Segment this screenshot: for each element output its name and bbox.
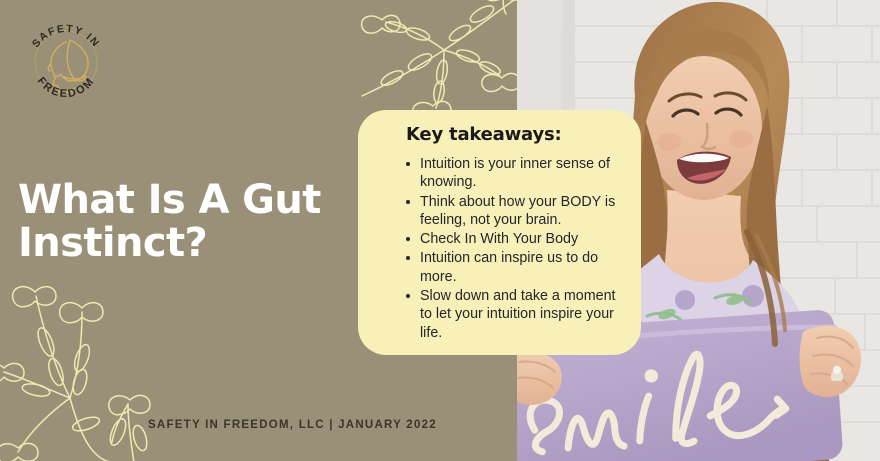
key-takeaways-card: Key takeaways: Intuition is your inner s… — [358, 110, 641, 355]
list-item-text: Slow down and take a moment to let your … — [420, 288, 616, 341]
list-item-text: Intuition can inspire us to do more. — [420, 250, 598, 284]
footer-credit: SAFETY IN FREEDOM, LLC | JANUARY 2022 — [148, 419, 437, 431]
card-title: Key takeaways: — [406, 124, 623, 145]
list-item-text: Intuition is your inner sense of knowing… — [420, 156, 610, 190]
bullet-dot-icon — [406, 200, 410, 204]
list-item-text: Check In With Your Body — [420, 231, 578, 247]
bullet-dot-icon — [406, 162, 410, 166]
social-graphic-slide: SAFETY IN FREEDOM What Is A Gut Instinct… — [0, 0, 880, 461]
list-item: Slow down and take a moment to let your … — [406, 287, 623, 342]
brand-logo: SAFETY IN FREEDOM — [22, 18, 110, 106]
takeaways-list: Intuition is your inner sense of knowing… — [384, 155, 623, 342]
bullet-dot-icon — [406, 237, 410, 241]
page-title: What Is A Gut Instinct? — [18, 179, 358, 265]
svg-text:SAFETY IN: SAFETY IN — [30, 23, 102, 50]
logo-top-arc-text: SAFETY IN — [30, 23, 102, 50]
list-item: Think about how your BODY is feeling, no… — [406, 193, 623, 230]
bullet-dot-icon — [406, 256, 410, 260]
list-item-text: Think about how your BODY is feeling, no… — [420, 194, 615, 228]
list-item: Intuition can inspire us to do more. — [406, 249, 623, 286]
list-item: Intuition is your inner sense of knowing… — [406, 155, 623, 192]
list-item: Check In With Your Body — [406, 230, 623, 248]
bullet-dot-icon — [406, 294, 410, 298]
